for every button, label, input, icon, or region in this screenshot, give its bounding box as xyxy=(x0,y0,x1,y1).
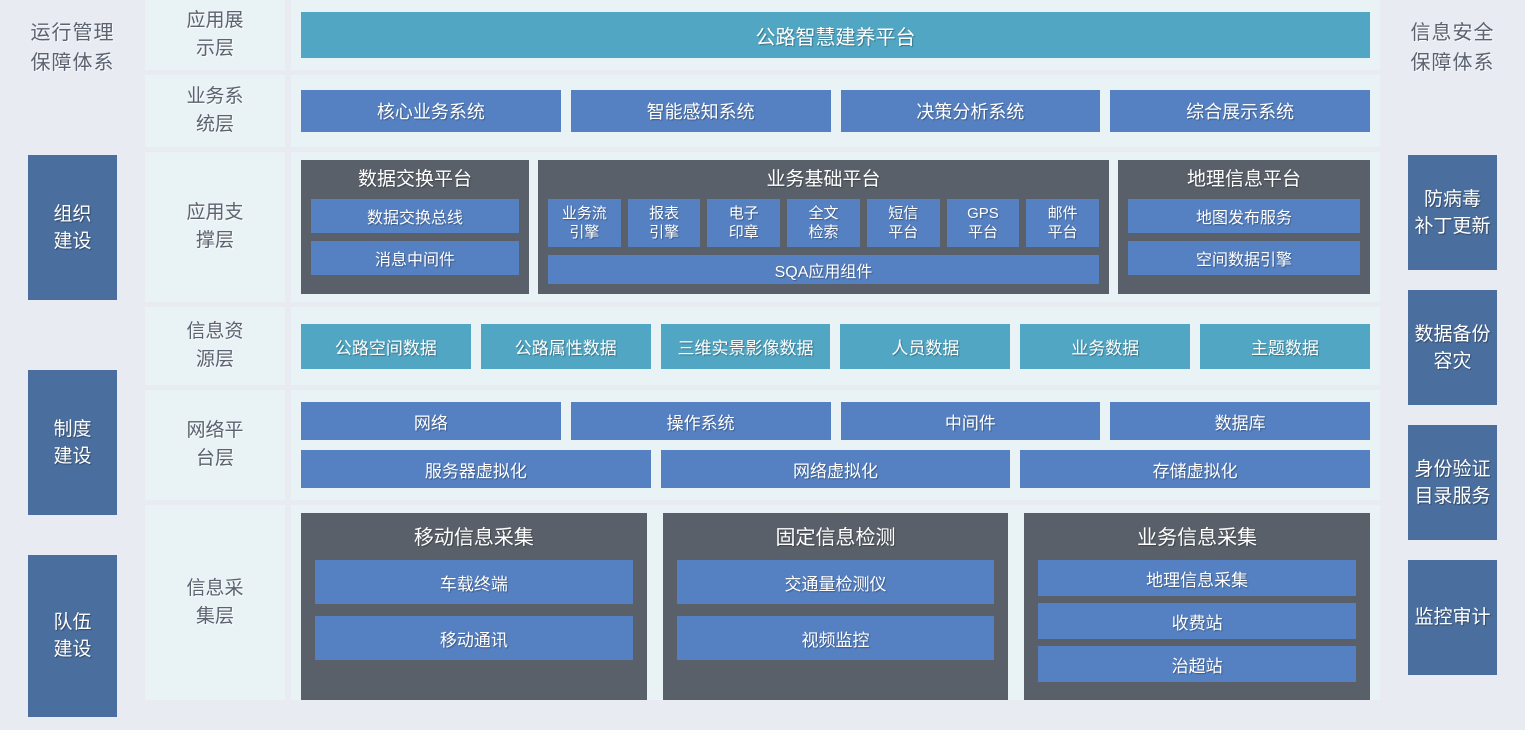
layer-stack: 应用展 示层 公路智慧建养平台 业务系 统层 核心业务系统 智能感知系统 决策分… xyxy=(145,0,1380,730)
layer-label-app-display: 应用展 示层 xyxy=(145,0,285,70)
mobile-communication[interactable]: 移动通讯 xyxy=(315,616,633,660)
layer-business-systems: 业务系 统层 核心业务系统 智能感知系统 决策分析系统 综合展示系统 xyxy=(145,75,1380,147)
left-pillar-box-system[interactable]: 制度 建设 xyxy=(28,370,117,515)
network-item-middleware[interactable]: 中间件 xyxy=(841,402,1101,440)
business-system-decision[interactable]: 决策分析系统 xyxy=(841,90,1101,132)
resource-road-spatial-data[interactable]: 公路空间数据 xyxy=(301,324,471,369)
panel-items-gis: 地图发布服务 空间数据引擎 xyxy=(1128,199,1360,275)
business-systems-row: 核心业务系统 智能感知系统 决策分析系统 综合展示系统 xyxy=(301,90,1370,132)
chip-mail-platform[interactable]: 邮件 平台 xyxy=(1026,199,1099,247)
gis-collection[interactable]: 地理信息采集 xyxy=(1038,560,1356,596)
layer-info-resource: 信息资 源层 公路空间数据 公路属性数据 三维实景影像数据 人员数据 业务数据 … xyxy=(145,307,1380,385)
layer-label-info-resource: 信息资 源层 xyxy=(145,307,285,385)
layer-app-support: 应用支 撑层 数据交换平台 数据交换总线 消息中间件 业务基础平台 业务流 引擎 xyxy=(145,152,1380,302)
layer-label-business-systems: 业务系 统层 xyxy=(145,75,285,147)
map-publish-service[interactable]: 地图发布服务 xyxy=(1128,199,1360,233)
resource-3d-imagery-data[interactable]: 三维实景影像数据 xyxy=(661,324,831,369)
network-item-storage-virtualization[interactable]: 存储虚拟化 xyxy=(1020,450,1370,488)
layer-body-network-platform: 网络 操作系统 中间件 数据库 服务器虚拟化 网络虚拟化 存储虚拟化 xyxy=(291,390,1380,500)
panel-items-fixed-detection: 交通量检测仪 视频监控 xyxy=(677,560,995,660)
resource-road-attribute-data[interactable]: 公路属性数据 xyxy=(481,324,651,369)
panel-title-fixed-detection: 固定信息检测 xyxy=(677,523,995,553)
layer-label-info-collection: 信息采 集层 xyxy=(145,505,285,700)
panel-fixed-detection: 固定信息检测 交通量检测仪 视频监控 xyxy=(663,513,1009,700)
layer-body-info-resource: 公路空间数据 公路属性数据 三维实景影像数据 人员数据 业务数据 主题数据 xyxy=(291,307,1380,385)
layer-body-business-systems: 核心业务系统 智能感知系统 决策分析系统 综合展示系统 xyxy=(291,75,1380,147)
panel-title-gis: 地理信息平台 xyxy=(1128,166,1360,194)
network-platform-row-1: 网络 操作系统 中间件 数据库 xyxy=(301,402,1370,440)
right-pillar: 信息安全 保障体系 防病毒 补丁更新 数据备份 容灾 身份验证 目录服务 监控审… xyxy=(1380,0,1525,730)
layer-app-display: 应用展 示层 公路智慧建养平台 xyxy=(145,0,1380,70)
sqa-application-component[interactable]: SQA应用组件 xyxy=(548,255,1099,284)
panel-items-data-exchange: 数据交换总线 消息中间件 xyxy=(311,199,519,275)
layer-body-app-display: 公路智慧建养平台 xyxy=(291,0,1380,70)
panel-title-business-collection: 业务信息采集 xyxy=(1038,523,1356,553)
chip-gps-platform[interactable]: GPS 平台 xyxy=(947,199,1020,247)
business-system-display[interactable]: 综合展示系统 xyxy=(1110,90,1370,132)
left-pillar-box-team[interactable]: 队伍 建设 xyxy=(28,555,117,717)
vehicle-terminal[interactable]: 车载终端 xyxy=(315,560,633,604)
layer-body-app-support: 数据交换平台 数据交换总线 消息中间件 业务基础平台 业务流 引擎 报表 引擎 … xyxy=(291,152,1380,302)
right-pillar-box-identity[interactable]: 身份验证 目录服务 xyxy=(1408,425,1497,540)
panel-items-mobile-collection: 车载终端 移动通讯 xyxy=(315,560,633,660)
right-pillar-box-audit[interactable]: 监控审计 xyxy=(1408,560,1497,675)
left-pillar-box-organization[interactable]: 组织 建设 xyxy=(28,155,117,300)
business-system-core[interactable]: 核心业务系统 xyxy=(301,90,561,132)
network-item-database[interactable]: 数据库 xyxy=(1110,402,1370,440)
right-pillar-title: 信息安全 保障体系 xyxy=(1411,0,1495,78)
left-pillar: 运行管理 保障体系 组织 建设 制度 建设 队伍 建设 xyxy=(0,0,145,730)
panel-gis: 地理信息平台 地图发布服务 空间数据引擎 xyxy=(1118,160,1370,294)
overload-station[interactable]: 治超站 xyxy=(1038,646,1356,682)
data-exchange-bus[interactable]: 数据交换总线 xyxy=(311,199,519,233)
layer-label-network-platform: 网络平 台层 xyxy=(145,390,285,500)
business-system-sensing[interactable]: 智能感知系统 xyxy=(571,90,831,132)
network-item-server-virtualization[interactable]: 服务器虚拟化 xyxy=(301,450,651,488)
panel-title-data-exchange: 数据交换平台 xyxy=(311,166,519,194)
chip-workflow-engine[interactable]: 业务流 引擎 xyxy=(548,199,621,247)
architecture-diagram: 运行管理 保障体系 组织 建设 制度 建设 队伍 建设 应用展 示层 公路智慧建… xyxy=(0,0,1525,730)
app-support-panels: 数据交换平台 数据交换总线 消息中间件 业务基础平台 业务流 引擎 报表 引擎 … xyxy=(301,160,1370,294)
chip-sms-platform[interactable]: 短信 平台 xyxy=(867,199,940,247)
network-platform-row-2: 服务器虚拟化 网络虚拟化 存储虚拟化 xyxy=(301,450,1370,488)
info-resource-row: 公路空间数据 公路属性数据 三维实景影像数据 人员数据 业务数据 主题数据 xyxy=(301,324,1370,369)
toll-station[interactable]: 收费站 xyxy=(1038,603,1356,639)
network-item-os[interactable]: 操作系统 xyxy=(571,402,831,440)
business-foundation-chips: 业务流 引擎 报表 引擎 电子 印章 全文 检索 短信 平台 GPS 平台 邮件… xyxy=(548,199,1099,247)
layer-body-info-collection: 移动信息采集 车载终端 移动通讯 固定信息检测 交通量检测仪 视频监控 xyxy=(291,505,1380,700)
resource-personnel-data[interactable]: 人员数据 xyxy=(840,324,1010,369)
network-item-network-virtualization[interactable]: 网络虚拟化 xyxy=(661,450,1011,488)
resource-business-data[interactable]: 业务数据 xyxy=(1020,324,1190,369)
spatial-data-engine[interactable]: 空间数据引擎 xyxy=(1128,241,1360,275)
layer-label-app-support: 应用支 撑层 xyxy=(145,152,285,302)
panel-business-foundation: 业务基础平台 业务流 引擎 报表 引擎 电子 印章 全文 检索 短信 平台 GP… xyxy=(538,160,1109,294)
platform-banner[interactable]: 公路智慧建养平台 xyxy=(301,12,1370,58)
layer-network-platform: 网络平 台层 网络 操作系统 中间件 数据库 服务器虚拟化 网络虚拟化 存储虚拟… xyxy=(145,390,1380,500)
resource-theme-data[interactable]: 主题数据 xyxy=(1200,324,1370,369)
network-item-network[interactable]: 网络 xyxy=(301,402,561,440)
video-surveillance[interactable]: 视频监控 xyxy=(677,616,995,660)
chip-fulltext-search[interactable]: 全文 检索 xyxy=(787,199,860,247)
traffic-volume-detector[interactable]: 交通量检测仪 xyxy=(677,560,995,604)
panel-data-exchange: 数据交换平台 数据交换总线 消息中间件 xyxy=(301,160,529,294)
panel-business-collection: 业务信息采集 地理信息采集 收费站 治超站 xyxy=(1024,513,1370,700)
left-pillar-title: 运行管理 保障体系 xyxy=(31,0,115,78)
chip-electronic-seal[interactable]: 电子 印章 xyxy=(707,199,780,247)
chip-report-engine[interactable]: 报表 引擎 xyxy=(628,199,701,247)
message-middleware[interactable]: 消息中间件 xyxy=(311,241,519,275)
panel-mobile-collection: 移动信息采集 车载终端 移动通讯 xyxy=(301,513,647,700)
panel-items-business-collection: 地理信息采集 收费站 治超站 xyxy=(1038,560,1356,682)
right-pillar-box-backup[interactable]: 数据备份 容灾 xyxy=(1408,290,1497,405)
layer-info-collection: 信息采 集层 移动信息采集 车载终端 移动通讯 固定信息检测 交通量检测仪 xyxy=(145,505,1380,700)
panel-title-business-foundation: 业务基础平台 xyxy=(548,166,1099,194)
right-pillar-box-antivirus[interactable]: 防病毒 补丁更新 xyxy=(1408,155,1497,270)
info-collection-panels: 移动信息采集 车载终端 移动通讯 固定信息检测 交通量检测仪 视频监控 xyxy=(301,513,1370,700)
panel-title-mobile-collection: 移动信息采集 xyxy=(315,523,633,553)
